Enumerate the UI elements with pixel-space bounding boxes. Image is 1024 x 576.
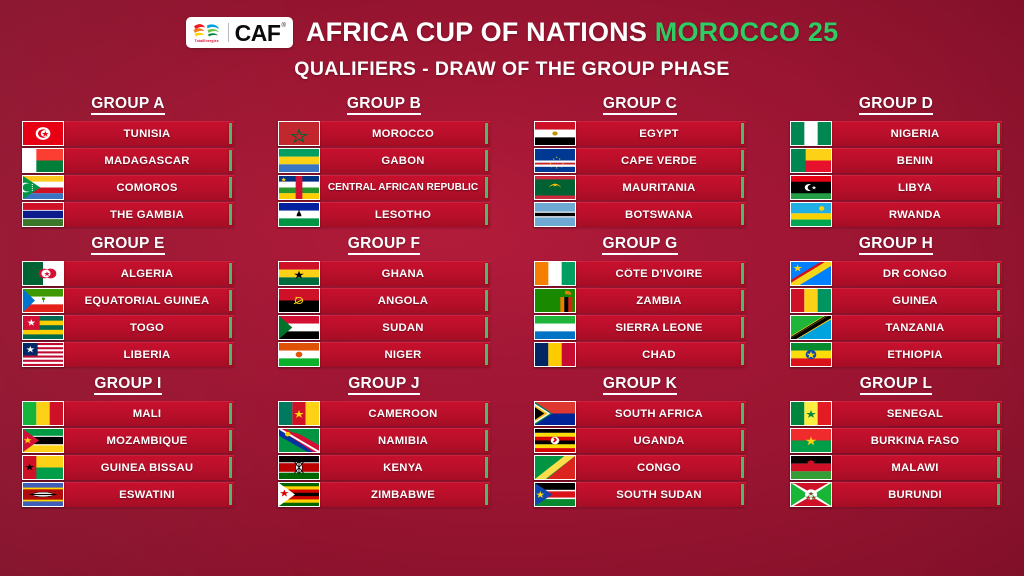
team-name: GHANA [320,268,490,280]
flag-cg-icon [534,455,576,480]
team-row[interactable]: NAMIBIA [278,428,490,453]
flag-ke-icon [278,455,320,480]
team-row[interactable]: COMOROS [22,175,234,200]
team-name: EQUATORIAL GUINEA [64,295,234,307]
team-row[interactable]: MALAWI [790,455,1002,480]
team-name: NIGER [320,349,490,361]
group-g: GROUP GCÔTE D'IVOIREZAMBIASIERRA LEONECH… [512,235,768,367]
team-row[interactable]: GUINEA BISSAU [22,455,234,480]
groups-grid: GROUP ATUNISIAMADAGASCARCOMOROSTHE GAMBI… [0,95,1024,507]
row-accent-bar [485,317,489,338]
logo-divider [228,23,229,42]
team-name: UGANDA [576,435,746,447]
group-e: GROUP EALGERIAEQUATORIAL GUINEATOGOLIBER… [0,235,256,367]
row-accent-bar [741,263,745,284]
host-edition: MOROCCO 25 [655,17,839,47]
team-name: SENEGAL [832,408,1002,420]
row-accent-bar [997,403,1001,424]
caf-lockup: CAF ® [235,21,286,45]
flag-cf-icon [278,175,320,200]
group-heading: GROUP J [278,375,490,394]
group-heading: GROUP E [22,235,234,254]
row-accent-bar [229,290,233,311]
group-heading-label: GROUP K [603,375,677,395]
flag-ma-icon [278,121,320,146]
flag-ng-icon [790,121,832,146]
team-name: MOROCCO [320,128,490,140]
team-name: THE GAMBIA [64,209,234,221]
row-accent-bar [741,177,745,198]
flag-cv-icon [534,148,576,173]
team-name: DR CONGO [832,268,1002,280]
flag-mr-icon [534,175,576,200]
group-heading: GROUP I [22,375,234,394]
row-accent-bar [997,177,1001,198]
flag-gq-icon [22,288,64,313]
group-heading: GROUP F [278,235,490,254]
row-accent-bar [997,457,1001,478]
row-accent-bar [997,290,1001,311]
group-c: GROUP CEGYPTCAPE VERDEMAURITANIABOTSWANA [512,95,768,227]
draw-graphic: TotalEnergies CAF ® AFRICA CUP OF NATION… [0,0,1024,576]
team-name: ETHIOPIA [832,349,1002,361]
flag-tz-icon [790,315,832,340]
row-accent-bar [229,150,233,171]
row-accent-bar [229,430,233,451]
group-heading-label: GROUP D [859,95,933,115]
flag-gm-icon [22,202,64,227]
team-name: CENTRAL AFRICAN REPUBLIC [320,182,490,193]
row-accent-bar [229,263,233,284]
row-accent-bar [741,403,745,424]
team-row[interactable]: SENEGAL [790,401,1002,426]
team-name: SIERRA LEONE [576,322,746,334]
team-row[interactable]: TUNISIA [22,121,234,146]
flag-cm-icon [278,401,320,426]
team-list: SENEGALBURKINA FASOMALAWIBURUNDI [790,401,1002,507]
flag-bj-icon [790,148,832,173]
flag-gw-icon [22,455,64,480]
row-accent-bar [229,123,233,144]
team-name: CAPE VERDE [576,155,746,167]
page-title: AFRICA CUP OF NATIONS MOROCCO 25 [306,17,838,48]
team-name: ZAMBIA [576,295,746,307]
group-heading: GROUP D [790,95,1002,114]
group-heading: GROUP H [790,235,1002,254]
team-row[interactable]: SOUTH SUDAN [534,482,746,507]
team-name: SOUTH AFRICA [576,408,746,420]
team-row[interactable]: RWANDA [790,202,1002,227]
flag-ao-icon [278,288,320,313]
team-name: GUINEA BISSAU [64,462,234,474]
flag-ug-icon [534,428,576,453]
group-heading: GROUP A [22,95,234,114]
group-d: GROUP DNIGERIABENINLIBYARWANDA [768,95,1024,227]
team-row[interactable]: BURUNDI [790,482,1002,507]
group-heading-label: GROUP H [859,235,933,255]
team-row[interactable]: CONGO [534,455,746,480]
team-row[interactable]: MOROCCO [278,121,490,146]
flag-ly-icon [790,175,832,200]
team-name: MAURITANIA [576,182,746,194]
flag-sz-icon [22,482,64,507]
group-heading: GROUP G [534,235,746,254]
row-accent-bar [485,263,489,284]
flag-ga-icon [278,148,320,173]
row-accent-bar [485,204,489,225]
row-accent-bar [229,177,233,198]
team-list: EGYPTCAPE VERDEMAURITANIABOTSWANA [534,121,746,227]
team-list: CÔTE D'IVOIREZAMBIASIERRA LEONECHAD [534,261,746,367]
team-name: CAMEROON [320,408,490,420]
team-row[interactable]: SIERRA LEONE [534,315,746,340]
row-accent-bar [485,123,489,144]
team-row[interactable]: MAURITANIA [534,175,746,200]
team-name: COMOROS [64,182,234,194]
flag-bf-icon [790,428,832,453]
group-l: GROUP LSENEGALBURKINA FASOMALAWIBURUNDI [768,375,1024,507]
team-name: TANZANIA [832,322,1002,334]
group-heading: GROUP C [534,95,746,114]
row-accent-bar [229,457,233,478]
flag-dz-icon [22,261,64,286]
flag-tn-icon [22,121,64,146]
row-accent-bar [229,204,233,225]
team-list: GHANAANGOLASUDANNIGER [278,261,490,367]
flag-sl-icon [534,315,576,340]
team-name: LIBYA [832,182,1002,194]
row-accent-bar [997,263,1001,284]
team-name: LESOTHO [320,209,490,221]
flag-ss-icon [534,482,576,507]
team-name: EGYPT [576,128,746,140]
page-subtitle: QUALIFIERS - DRAW OF THE GROUP PHASE [0,58,1024,81]
team-name: GABON [320,155,490,167]
team-row[interactable]: UGANDA [534,428,746,453]
team-name: MADAGASCAR [64,155,234,167]
team-row[interactable]: BENIN [790,148,1002,173]
row-accent-bar [997,317,1001,338]
team-row[interactable]: MADAGASCAR [22,148,234,173]
flag-bi-icon [790,482,832,507]
team-row[interactable]: DR CONGO [790,261,1002,286]
row-accent-bar [997,150,1001,171]
team-list: TUNISIAMADAGASCARCOMOROSTHE GAMBIA [22,121,234,227]
row-accent-bar [997,484,1001,505]
group-j: GROUP JCAMEROONNAMIBIAKENYAZIMBABWE [256,375,512,507]
row-accent-bar [741,484,745,505]
team-row[interactable]: ESWATINI [22,482,234,507]
team-row[interactable]: KENYA [278,455,490,480]
team-row[interactable]: GABON [278,148,490,173]
team-list: SOUTH AFRICAUGANDACONGOSOUTH SUDAN [534,401,746,507]
flag-et-icon [790,342,832,367]
caf-totalenergies-logo: TotalEnergies CAF ® [186,17,293,48]
team-name: ESWATINI [64,489,234,501]
team-name: CÔTE D'IVOIRE [576,268,746,280]
registered-trademark-icon: ® [281,23,285,29]
team-name: MALI [64,408,234,420]
row-accent-bar [485,457,489,478]
team-row[interactable]: CAMEROON [278,401,490,426]
flag-ci-icon [534,261,576,286]
flag-na-icon [278,428,320,453]
group-f: GROUP FGHANAANGOLASUDANNIGER [256,235,512,367]
group-h: GROUP HDR CONGOGUINEATANZANIAETHIOPIA [768,235,1024,367]
team-name: BOTSWANA [576,209,746,221]
caf-wordmark: CAF [235,21,281,45]
row-accent-bar [741,204,745,225]
team-row[interactable]: CHAD [534,342,746,367]
team-row[interactable]: EQUATORIAL GUINEA [22,288,234,313]
flag-ls-icon [278,202,320,227]
row-accent-bar [741,123,745,144]
flag-bw-icon [534,202,576,227]
team-row[interactable]: ETHIOPIA [790,342,1002,367]
row-accent-bar [485,177,489,198]
flag-eg-icon [534,121,576,146]
row-accent-bar [997,344,1001,365]
flag-td-icon [534,342,576,367]
team-name: MOZAMBIQUE [64,435,234,447]
team-row[interactable]: GHANA [278,261,490,286]
team-name: KENYA [320,462,490,474]
team-row[interactable]: EGYPT [534,121,746,146]
totalenergies-icon: TotalEnergies [192,22,222,43]
team-name: NAMIBIA [320,435,490,447]
row-accent-bar [997,204,1001,225]
team-name: BURKINA FASO [832,435,1002,447]
flag-za-icon [534,401,576,426]
team-name: LIBERIA [64,349,234,361]
flag-ne-icon [278,342,320,367]
row-accent-bar [485,150,489,171]
flag-lr-icon [22,342,64,367]
team-name: TUNISIA [64,128,234,140]
team-row[interactable]: BOTSWANA [534,202,746,227]
team-row[interactable]: CÔTE D'IVOIRE [534,261,746,286]
flag-zm-icon [534,288,576,313]
team-row[interactable]: NIGER [278,342,490,367]
flag-sd-icon [278,315,320,340]
flag-km-icon [22,175,64,200]
team-row[interactable]: CENTRAL AFRICAN REPUBLIC [278,175,490,200]
team-row[interactable]: MALI [22,401,234,426]
team-list: NIGERIABENINLIBYARWANDA [790,121,1002,227]
group-heading-label: GROUP L [860,375,932,395]
group-a: GROUP ATUNISIAMADAGASCARCOMOROSTHE GAMBI… [0,95,256,227]
team-name: CHAD [576,349,746,361]
team-row[interactable]: BURKINA FASO [790,428,1002,453]
team-list: ALGERIAEQUATORIAL GUINEATOGOLIBERIA [22,261,234,367]
row-accent-bar [485,430,489,451]
group-heading-label: GROUP E [91,235,164,255]
team-row[interactable]: NIGERIA [790,121,1002,146]
team-row[interactable]: LIBERIA [22,342,234,367]
row-accent-bar [997,430,1001,451]
team-name: SOUTH SUDAN [576,489,746,501]
team-row[interactable]: ANGOLA [278,288,490,313]
group-b: GROUP BMOROCCOGABONCENTRAL AFRICAN REPUB… [256,95,512,227]
flag-zw-icon [278,482,320,507]
team-name: ZIMBABWE [320,489,490,501]
row-accent-bar [485,403,489,424]
row-accent-bar [229,484,233,505]
totalenergies-glyph [192,22,222,39]
team-row[interactable]: SOUTH AFRICA [534,401,746,426]
row-accent-bar [485,484,489,505]
row-accent-bar [741,457,745,478]
team-row[interactable]: ZIMBABWE [278,482,490,507]
team-name: RWANDA [832,209,1002,221]
team-row[interactable]: CAPE VERDE [534,148,746,173]
group-heading-label: GROUP G [602,235,677,255]
team-name: MALAWI [832,462,1002,474]
title-row: TotalEnergies CAF ® AFRICA CUP OF NATION… [0,17,1024,48]
row-accent-bar [741,430,745,451]
team-name: SUDAN [320,322,490,334]
team-row[interactable]: MOZAMBIQUE [22,428,234,453]
group-k: GROUP KSOUTH AFRICAUGANDACONGOSOUTH SUDA… [512,375,768,507]
tournament-name: AFRICA CUP OF NATIONS [306,17,647,47]
totalenergies-wordmark: TotalEnergies [195,40,219,43]
team-row[interactable]: TOGO [22,315,234,340]
flag-ml-icon [22,401,64,426]
team-row[interactable]: THE GAMBIA [22,202,234,227]
flag-cd-icon [790,261,832,286]
flag-mw-icon [790,455,832,480]
team-list: MOROCCOGABONCENTRAL AFRICAN REPUBLICLESO… [278,121,490,227]
team-name: ALGERIA [64,268,234,280]
group-heading-label: GROUP C [603,95,677,115]
row-accent-bar [485,344,489,365]
team-name: BENIN [832,155,1002,167]
team-name: CONGO [576,462,746,474]
group-heading: GROUP K [534,375,746,394]
team-row[interactable]: LESOTHO [278,202,490,227]
row-accent-bar [741,344,745,365]
flag-rw-icon [790,202,832,227]
team-name: TOGO [64,322,234,334]
team-row[interactable]: LIBYA [790,175,1002,200]
row-accent-bar [229,403,233,424]
flag-gh-icon [278,261,320,286]
team-name: ANGOLA [320,295,490,307]
team-list: DR CONGOGUINEATANZANIAETHIOPIA [790,261,1002,367]
flag-mz-icon [22,428,64,453]
flag-tg-icon [22,315,64,340]
header: TotalEnergies CAF ® AFRICA CUP OF NATION… [0,0,1024,81]
group-heading-label: GROUP I [94,375,161,395]
row-accent-bar [485,290,489,311]
group-heading-label: GROUP F [348,235,420,255]
group-i: GROUP IMALIMOZAMBIQUEGUINEA BISSAUESWATI… [0,375,256,507]
row-accent-bar [997,123,1001,144]
row-accent-bar [229,344,233,365]
group-heading-label: GROUP B [347,95,421,115]
row-accent-bar [741,290,745,311]
group-heading: GROUP B [278,95,490,114]
row-accent-bar [741,317,745,338]
team-row[interactable]: SUDAN [278,315,490,340]
row-accent-bar [741,150,745,171]
team-row[interactable]: GUINEA [790,288,1002,313]
team-list: CAMEROONNAMIBIAKENYAZIMBABWE [278,401,490,507]
flag-sn-icon [790,401,832,426]
group-heading-label: GROUP J [348,375,420,395]
team-name: GUINEA [832,295,1002,307]
team-row[interactable]: ZAMBIA [534,288,746,313]
flag-gn-icon [790,288,832,313]
group-heading: GROUP L [790,375,1002,394]
group-heading-label: GROUP A [91,95,165,115]
row-accent-bar [229,317,233,338]
team-row[interactable]: TANZANIA [790,315,1002,340]
team-row[interactable]: ALGERIA [22,261,234,286]
team-list: MALIMOZAMBIQUEGUINEA BISSAUESWATINI [22,401,234,507]
team-name: BURUNDI [832,489,1002,501]
team-name: NIGERIA [832,128,1002,140]
flag-mg-icon [22,148,64,173]
